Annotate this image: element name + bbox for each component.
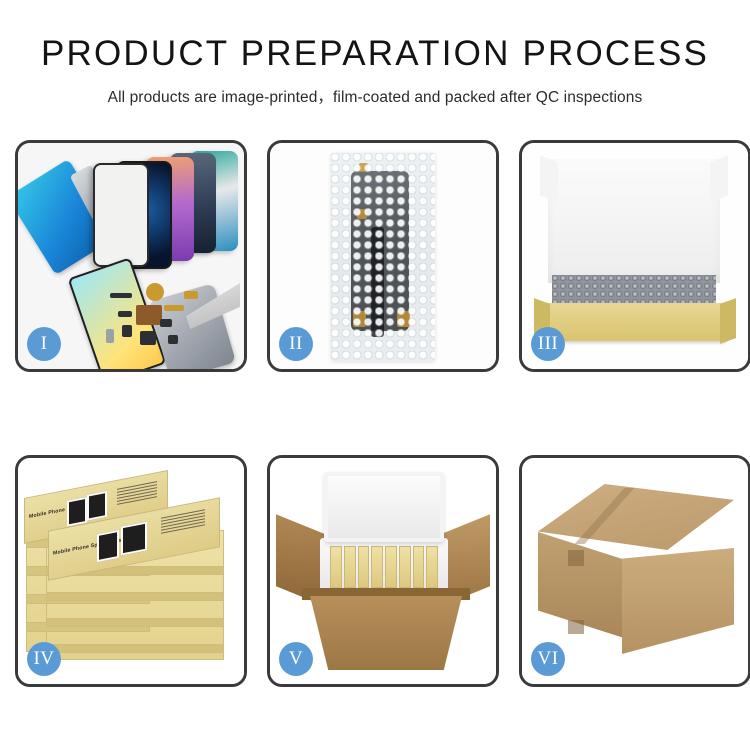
carton-seal-mark (568, 620, 584, 634)
step-badge-3: III (531, 327, 565, 361)
box-spec-lines (117, 481, 157, 507)
white-foam-lid (548, 159, 720, 283)
carton-body (310, 596, 462, 670)
page-header: PRODUCT PREPARATION PROCESS All products… (0, 0, 750, 107)
step-card-5[interactable]: V (267, 455, 499, 687)
bubble-bag (331, 153, 435, 361)
part-chip (160, 319, 172, 327)
part-gold-coil (146, 283, 164, 301)
box-edge (46, 592, 224, 601)
part-flex (164, 305, 184, 311)
part-chip (122, 325, 132, 337)
box-window (87, 491, 107, 521)
part-chip (140, 331, 156, 345)
step-card-4[interactable]: Mobile Phone Spare Parts Mobile Phone Sp… (15, 455, 247, 687)
step-card-6[interactable]: VI (519, 455, 750, 687)
carton-right-face (622, 548, 734, 654)
step-badge-1: I (27, 327, 61, 361)
part-board (136, 305, 162, 325)
step-card-3[interactable]: III (519, 140, 750, 372)
part-gold-clip (184, 291, 198, 299)
bubble-texture (331, 153, 435, 361)
box-edge (46, 618, 224, 627)
part-chip (168, 335, 178, 344)
box-window (97, 530, 119, 562)
grey-foam-padding (552, 275, 716, 305)
box-window (67, 497, 87, 527)
step-card-1[interactable]: I (15, 140, 247, 372)
step-badge-6: VI (531, 642, 565, 676)
step-badge-5: V (279, 642, 313, 676)
page-title: PRODUCT PREPARATION PROCESS (0, 36, 750, 71)
page-subtitle: All products are image-printed，film-coat… (0, 85, 750, 107)
part-chip (110, 293, 132, 298)
part-chip (106, 329, 114, 343)
box-window (121, 521, 147, 555)
step-badge-4: IV (27, 642, 61, 676)
yellow-boxes-row (330, 546, 438, 588)
carton-seal-mark (568, 550, 584, 566)
yellow-box-tray (544, 303, 726, 341)
process-grid: I II III (15, 140, 735, 690)
box-edge (46, 644, 224, 653)
step-badge-2: II (279, 327, 313, 361)
step-card-2[interactable]: II (267, 140, 499, 372)
part-chip (118, 311, 132, 317)
phone-screen-1 (93, 163, 149, 267)
box-spec-lines (161, 509, 205, 536)
foam-cooler-lid (324, 472, 444, 542)
carton-top-face (538, 484, 734, 550)
